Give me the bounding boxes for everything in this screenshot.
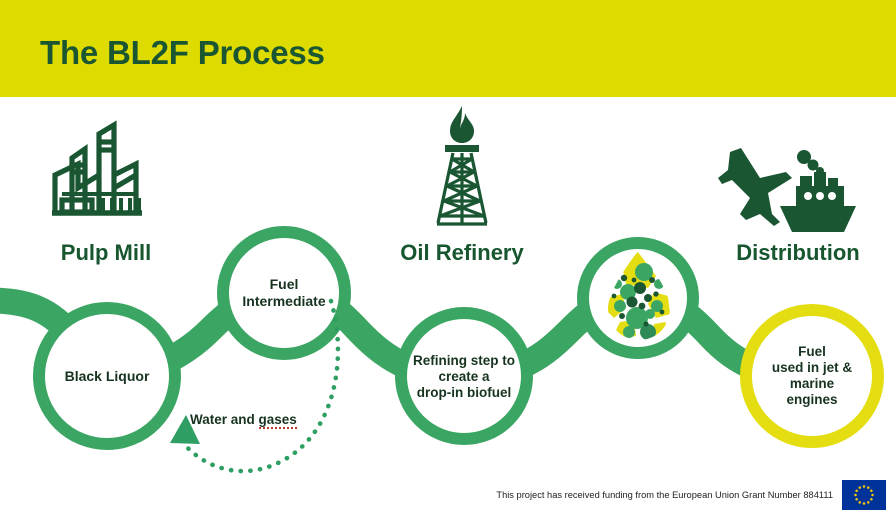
factory-icon <box>52 112 162 227</box>
stage-label-distribution: Distribution <box>700 240 896 266</box>
node-text-black-liquor: Black Liquor <box>42 352 172 400</box>
node-line: Intermediate <box>224 293 344 310</box>
node-line: used in jet & <box>754 360 870 376</box>
infographic-canvas: The BL2F Process <box>0 0 896 518</box>
node-line: Black Liquor <box>42 368 172 385</box>
node-line: drop-in biofuel <box>398 385 530 401</box>
node-line: marine <box>754 376 870 392</box>
eu-flag-icon <box>842 480 886 510</box>
node-text-fuel-intermediate: Fuel Intermediate <box>224 262 344 324</box>
node-line: Refining step to <box>398 353 530 369</box>
airplane-ship-icon <box>716 140 856 241</box>
node-line: create a <box>398 369 530 385</box>
stage-label-oil-refinery: Oil Refinery <box>355 240 569 266</box>
funding-statement: This project has received funding from t… <box>496 490 833 500</box>
node-line: Fuel <box>754 344 870 360</box>
recycle-flow-label: Water and gases <box>190 412 297 427</box>
node-line: engines <box>754 392 870 408</box>
node-text-refining-step: Refining step to create a drop-in biofue… <box>398 348 530 406</box>
node-text-fuel-end-use: Fuel used in jet & marine engines <box>754 337 870 415</box>
oil-derrick-flame-icon <box>412 104 512 235</box>
stage-label-pulp-mill: Pulp Mill <box>0 240 212 266</box>
node-line: Fuel <box>224 276 344 293</box>
recycle-flow-label-text: Water and <box>190 412 259 427</box>
funding-footer: This project has received funding from t… <box>496 480 886 510</box>
biofuel-droplet-icon <box>604 248 674 347</box>
recycle-flow-label-misspelled: gases <box>259 412 297 429</box>
